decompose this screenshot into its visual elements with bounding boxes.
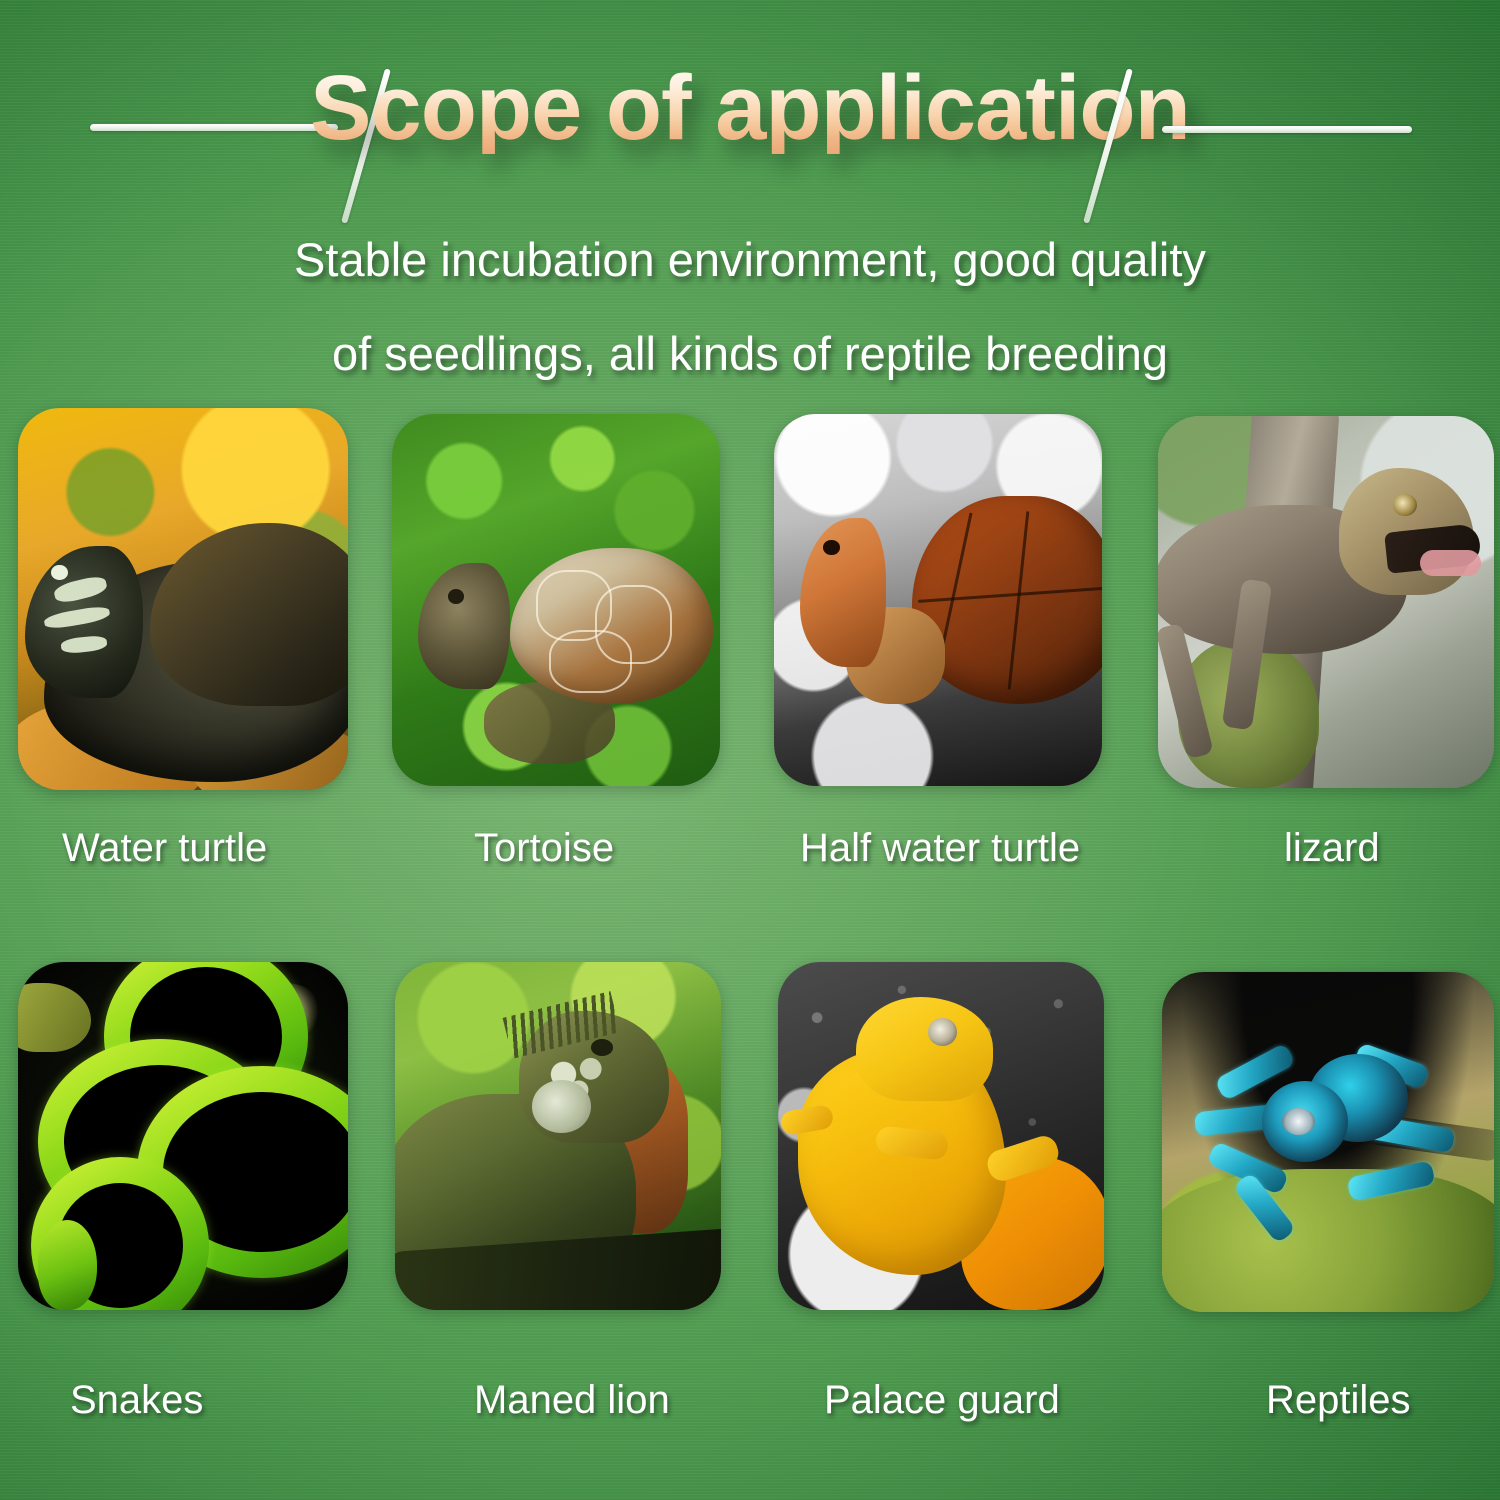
gallery-caption-water-turtle: Water turtle bbox=[62, 826, 267, 871]
gallery-caption-maned-lion: Maned lion bbox=[474, 1378, 670, 1423]
iguana-photo bbox=[395, 962, 721, 1310]
title-rule-right bbox=[1162, 126, 1412, 133]
subtitle-line-2: of seedlings, all kinds of reptile breed… bbox=[0, 326, 1500, 381]
gallery-tile-snakes bbox=[18, 962, 348, 1310]
gallery-tile-water-turtle bbox=[18, 408, 348, 790]
gallery-tile-maned-lion bbox=[395, 962, 721, 1310]
gallery-caption-tortoise: Tortoise bbox=[474, 826, 614, 871]
half-water-turtle-photo bbox=[774, 414, 1102, 786]
gallery-caption-half-water-turtle: Half water turtle bbox=[800, 826, 1080, 871]
gallery-caption-reptiles: Reptiles bbox=[1266, 1378, 1411, 1423]
leopard-gecko-photo bbox=[778, 962, 1104, 1310]
gallery-tile-tortoise bbox=[392, 414, 720, 786]
lizard-photo bbox=[1158, 416, 1494, 788]
tortoise-photo bbox=[392, 414, 720, 786]
subtitle-line-1: Stable incubation environment, good qual… bbox=[0, 232, 1500, 287]
scope-of-application-poster: Scope of application Stable incubation e… bbox=[0, 0, 1500, 1500]
gallery-tile-half-water-turtle bbox=[774, 414, 1102, 786]
gallery-tile-palace-guard bbox=[778, 962, 1104, 1310]
snake-photo bbox=[18, 962, 348, 1310]
water-turtle-photo bbox=[18, 408, 348, 790]
gallery-caption-snakes: Snakes bbox=[70, 1378, 203, 1423]
gallery-caption-palace-guard: Palace guard bbox=[824, 1378, 1060, 1423]
gallery-tile-reptiles bbox=[1162, 972, 1494, 1312]
page-title: Scope of application bbox=[0, 62, 1500, 154]
gallery-tile-lizard bbox=[1158, 416, 1494, 788]
header-section: Scope of application Stable incubation e… bbox=[0, 0, 1500, 400]
jumping-spider-photo bbox=[1162, 972, 1494, 1312]
gallery-caption-lizard: lizard bbox=[1284, 826, 1380, 871]
